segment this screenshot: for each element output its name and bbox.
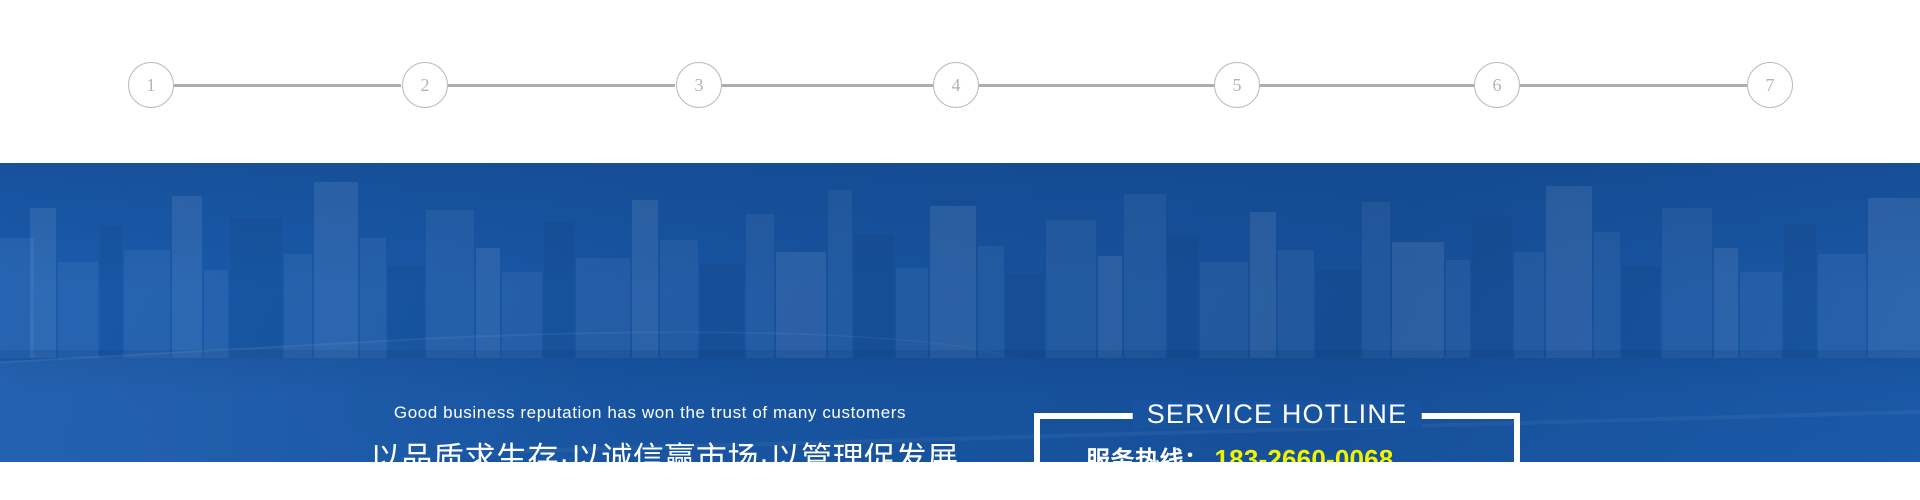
step-node-4[interactable]: 4 <box>933 62 979 108</box>
step-node-3[interactable]: 3 <box>676 62 722 108</box>
step-node-5[interactable]: 5 <box>1214 62 1260 108</box>
page-stage: 1 2 3 4 5 6 7 <box>0 0 1920 500</box>
step-node-2[interactable]: 2 <box>402 62 448 108</box>
step-node-label-6: 6 <box>1493 76 1502 94</box>
hotline-rows: 服务热线： 183-2660-0068 服务热线： 0551-63749777 <box>1040 443 1514 462</box>
step-connector-line-1 <box>151 84 401 87</box>
slogan-english-line: Good business reputation has won the tru… <box>370 403 930 423</box>
step-connector-line-6 <box>1498 84 1747 87</box>
step-node-label-4: 4 <box>952 76 961 94</box>
slogan-block: Good business reputation has won the tru… <box>370 403 930 462</box>
service-hotline-title: SERVICE HOTLINE <box>1133 401 1422 428</box>
step-connector-line-5 <box>1238 84 1474 87</box>
stepper-track: 1 2 3 4 5 6 7 <box>128 62 1793 110</box>
hotline-number-mobile[interactable]: 183-2660-0068 <box>1215 443 1394 462</box>
step-node-label-2: 2 <box>421 76 430 94</box>
step-node-label-7: 7 <box>1766 76 1775 94</box>
step-node-1[interactable]: 1 <box>128 62 174 108</box>
step-connector-line-2 <box>425 84 675 87</box>
step-node-6[interactable]: 6 <box>1474 62 1520 108</box>
step-node-label-3: 3 <box>695 76 704 94</box>
step-connector-line-4 <box>957 84 1214 87</box>
step-node-label-5: 5 <box>1233 76 1242 94</box>
hotline-row-primary: 服务热线： 183-2660-0068 <box>1040 443 1514 462</box>
blue-promo-banner: Good business reputation has won the tru… <box>0 163 1920 462</box>
slogan-headline: 以品质求生存·以诚信赢市场·以管理促发展 <box>370 440 930 462</box>
step-progress-bar: 1 2 3 4 5 6 7 <box>0 0 1920 163</box>
step-connector-line-3 <box>699 84 933 87</box>
city-skyline-graphic <box>0 163 1920 358</box>
step-node-7[interactable]: 7 <box>1747 62 1793 108</box>
hotline-label: 服务热线： <box>1086 446 1209 462</box>
step-node-label-1: 1 <box>147 76 156 94</box>
service-hotline-box: SERVICE HOTLINE 服务热线： 183-2660-0068 服务热线… <box>1034 413 1520 462</box>
